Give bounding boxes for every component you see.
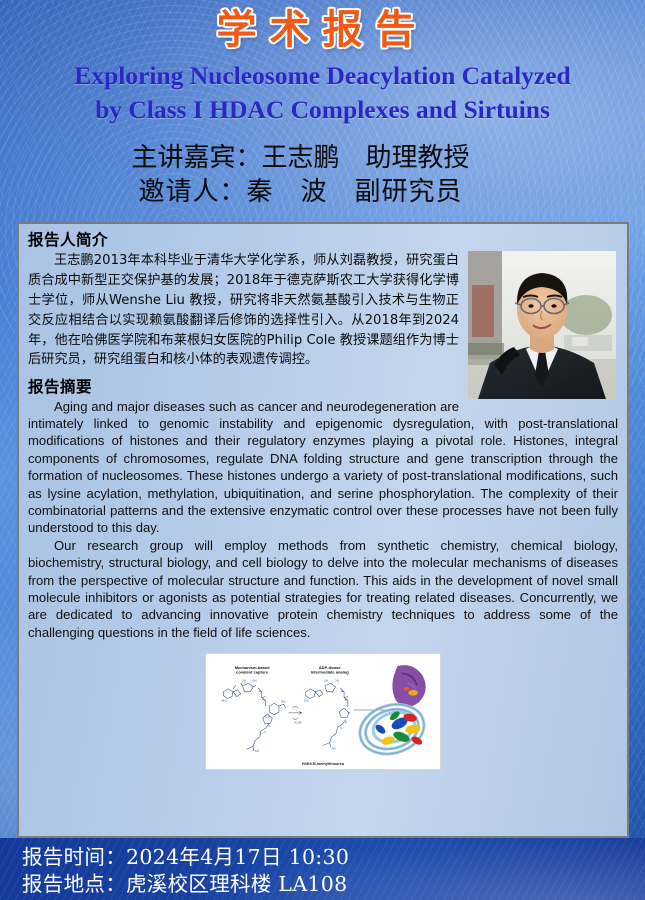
figure-label-right-2: intermediate analog — [311, 670, 349, 675]
people-block: 主讲嘉宾：王志鹏 助理教授 邀请人：秦 波 副研究员 — [0, 141, 645, 211]
abstract-paragraph-2: Our research group will employ methods f… — [28, 537, 618, 641]
reagent-label: H₂NR — [294, 721, 301, 725]
seminar-time-label: 报告时间： — [22, 845, 126, 869]
svg-text:S: S — [268, 724, 270, 728]
bio-section-heading: 报告人简介 — [28, 231, 618, 250]
svg-text:OH: OH — [324, 678, 328, 682]
svg-text:S: S — [345, 721, 347, 725]
research-figure-graphic: Mechanism-based covalent capture ADP-rib… — [210, 658, 436, 762]
seminar-place-label: 报告地点： — [22, 872, 126, 896]
figure-caption: H3K9-N-methylthiourea — [210, 762, 436, 767]
poster-english-title: Exploring Nucleosome Deacylation Catalyz… — [0, 59, 645, 126]
poster-header: 学术报告 Exploring Nucleosome Deacylation Ca… — [0, 0, 645, 210]
figure-label-left-2: covalent capture — [236, 670, 269, 675]
speaker-photo — [468, 251, 616, 399]
seminar-time-value: 2024年4月17日 10:30 — [126, 845, 349, 869]
speaker-line: 主讲嘉宾：王志鹏 助理教授 — [0, 141, 601, 176]
svg-text:OH: OH — [242, 678, 246, 682]
svg-text:NH₂: NH₂ — [281, 700, 286, 704]
svg-text:OH: OH — [266, 715, 270, 719]
figure-svg: Mechanism-based covalent capture ADP-rib… — [210, 658, 436, 762]
speaker-photo-image — [468, 251, 616, 399]
svg-text:N: N — [264, 730, 266, 734]
seminar-place-value: 虎溪校区理科楼 LA108 — [126, 872, 347, 896]
svg-text:OH: OH — [334, 678, 338, 682]
svg-text:N: N — [340, 726, 342, 730]
seminar-time-line: 报告时间：2024年4月17日 10:30 — [22, 844, 645, 871]
svg-text:NH₂: NH₂ — [221, 699, 226, 703]
svg-text:NH: NH — [332, 746, 336, 750]
content-panel: 报告人简介 — [17, 222, 629, 838]
english-title-line-2: by Class I HDAC Complexes and Sirtuins — [0, 93, 645, 127]
svg-text:NH₂: NH₂ — [304, 699, 309, 703]
host-line: 邀请人：秦 波 副研究员 — [0, 175, 601, 210]
svg-text:NH: NH — [255, 749, 259, 753]
abstract-paragraph-1: Aging and major diseases such as cancer … — [28, 398, 618, 537]
english-title-line-1: Exploring Nucleosome Deacylation Catalyz… — [0, 59, 645, 93]
poster-footer: 报告时间：2024年4月17日 10:30 报告地点：虎溪校区理科楼 LA108 — [0, 838, 645, 900]
seminar-poster: 学术报告 Exploring Nucleosome Deacylation Ca… — [0, 0, 645, 900]
svg-text:OH: OH — [252, 678, 256, 682]
poster-chinese-title: 学术报告 — [0, 6, 645, 53]
research-figure: Mechanism-based covalent capture ADP-rib… — [205, 653, 441, 770]
seminar-place-line: 报告地点：虎溪校区理科楼 LA108 — [22, 871, 645, 898]
